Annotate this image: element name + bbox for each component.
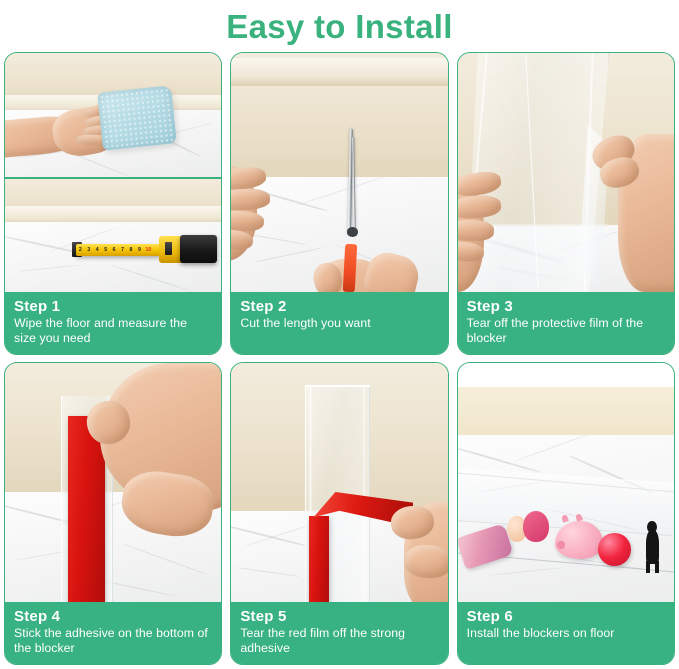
step-4-label: Step 4 (14, 608, 212, 625)
page-title: Easy to Install (0, 0, 679, 48)
toy-figurine (646, 530, 659, 563)
step-1-photo-top (5, 53, 221, 177)
step-3-description: Tear off the protective film of the bloc… (467, 316, 665, 345)
step-1-photo: 2 3 4 5 6 7 8 9 10 (5, 53, 221, 292)
step-3-photo (458, 53, 674, 292)
step-2-label: Step 2 (240, 298, 438, 315)
step-6-caption: Step 6 Install the blockers on floor (458, 602, 674, 664)
red-adhesive-film (309, 516, 328, 602)
step-1-description: Wipe the floor and measure the size you … (14, 316, 212, 345)
scissors-handle (343, 244, 357, 292)
step-4-photo (5, 363, 221, 602)
step-6-description: Install the blockers on floor (467, 626, 665, 641)
step-card-4[interactable]: Step 4 Stick the adhesive on the bottom … (4, 362, 222, 665)
cleaning-cloth (97, 85, 176, 151)
steps-grid: 2 3 4 5 6 7 8 9 10 Step 1 (4, 52, 675, 665)
step-3-caption: Step 3 Tear off the protective film of t… (458, 292, 674, 354)
step-6-photo (458, 363, 674, 602)
toy-doll-hair (523, 511, 549, 542)
panel-divider (5, 177, 221, 179)
tape-measure-case (180, 235, 217, 263)
step-card-3[interactable]: Step 3 Tear off the protective film of t… (457, 52, 675, 355)
toy-ball (598, 533, 630, 566)
tape-measure-blade: 2 3 4 5 6 7 8 9 10 (76, 244, 160, 256)
step-card-1[interactable]: 2 3 4 5 6 7 8 9 10 Step 1 (4, 52, 222, 355)
step-3-label: Step 3 (467, 298, 665, 315)
step-4-description: Stick the adhesive on the bottom of the … (14, 626, 212, 655)
red-adhesive-film (68, 416, 105, 602)
step-2-description: Cut the length you want (240, 316, 438, 331)
step-5-caption: Step 5 Tear the red film off the strong … (231, 602, 447, 664)
step-5-label: Step 5 (240, 608, 438, 625)
step-card-2[interactable]: Step 2 Cut the length you want (230, 52, 448, 355)
step-5-photo (231, 363, 447, 602)
step-card-5[interactable]: Step 5 Tear the red film off the strong … (230, 362, 448, 665)
step-1-caption: Step 1 Wipe the floor and measure the si… (5, 292, 221, 354)
step-4-caption: Step 4 Stick the adhesive on the bottom … (5, 602, 221, 664)
step-6-label: Step 6 (467, 608, 665, 625)
toy-pig (555, 521, 603, 559)
infographic-page: Easy to Install (0, 0, 679, 669)
step-card-6[interactable]: Step 6 Install the blockers on floor (457, 362, 675, 665)
step-2-caption: Step 2 Cut the length you want (231, 292, 447, 354)
step-1-photo-bottom: 2 3 4 5 6 7 8 9 10 (5, 179, 221, 292)
step-2-photo (231, 53, 447, 292)
step-1-label: Step 1 (14, 298, 212, 315)
step-5-description: Tear the red film off the strong adhesiv… (240, 626, 438, 655)
